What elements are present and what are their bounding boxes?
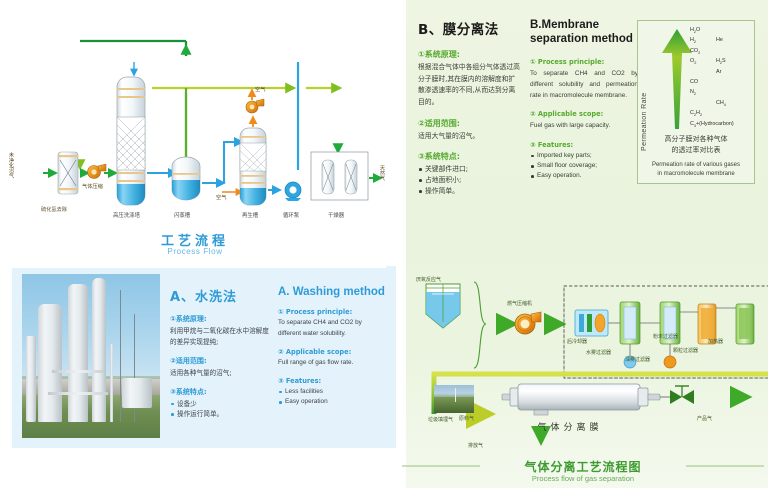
pf-label-air-mid: 空气	[216, 194, 226, 201]
washing-s2-title-cn: ②适用范围:	[170, 356, 270, 366]
h2s-removal-vessel	[58, 152, 78, 194]
pf-label-circulation-pump: 循环泵	[283, 211, 299, 219]
pf-label-raw-gas: 未净化沼气	[8, 152, 15, 178]
gs-label-particle-filter: 颗粒过滤器	[673, 347, 698, 354]
membrane-s3-item-3-cn: 操作简单。	[418, 186, 522, 197]
pf-label-air-top: 空气	[255, 86, 265, 93]
membrane-s1-body-cn: 根据混合气体中各组分气体透过高分子膜时,其在膜内的溶解度和扩散渗透速率的不同,从…	[418, 62, 522, 109]
membrane-s3-title-en: ③ Features:	[530, 141, 638, 149]
gs-label-anaerobic: 厌氧反应气	[416, 276, 441, 283]
washing-s2-title-en: ② Applicable scope:	[278, 348, 386, 356]
photo-tower-3	[92, 278, 106, 422]
washing-s3-item-2-cn: 操作运行简单。	[170, 409, 270, 420]
permeation-gas-he: He	[716, 37, 723, 43]
permeation-gas-co2: CO2	[690, 48, 700, 55]
gs-label-compressor: 燃气压缩机	[507, 300, 532, 307]
gs-label-powder-filter: 粉末过滤器	[653, 333, 678, 340]
photo-skid	[122, 378, 152, 408]
gas-separation-diagram	[398, 262, 768, 488]
pf-label-dryer: 干燥器	[328, 211, 344, 219]
plant-photo	[22, 274, 160, 438]
washing-s1-title-cn: ①系统原理:	[170, 314, 270, 324]
permeation-caption-en-line1: Permeation rate of various gases	[640, 161, 752, 170]
photo-pipe-riser	[110, 344, 113, 422]
membrane-s3-item-3-en: Easy operation.	[530, 171, 638, 181]
circulation-pump-icon	[285, 182, 301, 201]
washing-heading-en: A. Washing method	[278, 286, 386, 298]
gas-separation-membrane-module	[502, 384, 660, 415]
regeneration-tank	[240, 128, 266, 205]
permeation-gas-ar: Ar	[716, 69, 721, 75]
control-valve-icon	[670, 386, 694, 404]
permeation-gas-o2: O2	[690, 58, 696, 65]
permeation-caption-cn: 高分子膜对各种气体 的透过率对比表	[638, 134, 754, 155]
membrane-english-column: B.Membrane separation method ① Process p…	[530, 18, 638, 182]
photo-pipe-2	[48, 392, 108, 395]
landfill-photo-mast	[455, 388, 456, 402]
membrane-s2-body-en: Fuel gas with large capacity.	[530, 120, 638, 131]
air-blower-icon	[246, 99, 264, 113]
washing-english-column: A. Washing method ① Process principle: T…	[278, 286, 386, 407]
process-flow-diagram	[0, 0, 390, 262]
permeation-caption-en: Permeation rate of various gases in macr…	[640, 161, 752, 178]
membrane-s3-title-cn: ③系统特点:	[418, 151, 522, 162]
gs-label-oil-filter: 油雾过滤器	[625, 356, 650, 363]
permeation-gas-h2s: H2S	[716, 58, 726, 65]
gs-label-feed-gas: 原料气	[459, 415, 474, 422]
membrane-s3-item-2-en: Small floor coverage;	[530, 161, 638, 171]
washing-s2-body-cn: 适用各种气量的沼气;	[170, 368, 270, 379]
pf-label-regen-tank: 再生槽	[242, 211, 258, 219]
photo-tower-1	[38, 304, 62, 422]
membrane-s3-item-1-en: Imported key parts;	[530, 151, 638, 161]
washing-s3-title-en: ③ Features:	[278, 377, 386, 385]
washing-s1-body-cn: 利用甲烷与二氧化碳在水中溶解度的差异实现提纯;	[170, 326, 270, 348]
gs-membrane-label: 气体分离膜	[505, 420, 635, 433]
membrane-chinese-column: B、膜分离法 ①系统原理: 根据混合气体中各组分气体透过高分子膜时,其在膜内的溶…	[418, 18, 522, 197]
membrane-s1-body-en: To separate CH4 and CO2 by different sol…	[530, 68, 638, 102]
permeation-rate-box: Permeation Rate H2OH2HeCO2H2SO2ArCON2CH4…	[637, 20, 755, 184]
anaerobic-digester-icon	[426, 284, 460, 328]
membrane-heading-en: B.Membrane separation method	[530, 18, 638, 47]
gas-separation-title-en: Process flow of gas separation	[398, 474, 768, 483]
photo-tower-4	[26, 336, 36, 422]
gs-label-aftercooler: 后冷却器	[567, 338, 587, 345]
right-panel-blue-accent	[386, 266, 396, 448]
pf-label-flash-tank: 闪蒸槽	[174, 211, 190, 219]
dryer-unit	[311, 152, 368, 200]
permeation-caption-cn-line2: 的透过率对比表	[638, 145, 754, 156]
permeation-gas-c2h2: C2H2	[690, 110, 702, 117]
permeation-arrow-icon	[660, 27, 694, 131]
membrane-s3-item-1-cn: 关键部件进口;	[418, 164, 522, 175]
permeation-gas-n2: N2	[690, 89, 696, 96]
permeation-gas-ch4: CH4	[716, 100, 726, 107]
permeation-caption-en-line2: in macromolecule membrane	[640, 170, 752, 179]
membrane-s2-body-cn: 适用大气量的沼气。	[418, 131, 522, 143]
high-pressure-scrubber	[117, 77, 145, 205]
permeation-gas-co: CO	[690, 79, 698, 85]
gs-label-exhaust-gas: 排放气	[468, 442, 483, 449]
washing-s3-item-1-cn: 设备少	[170, 399, 270, 410]
permeation-gas-c3hydrocarbon: C3+(Hydrocarbon)	[690, 121, 734, 128]
photo-tower-2	[68, 284, 88, 422]
gas-compressor-icon	[88, 164, 107, 179]
washing-s3-item-2-en: Easy operation	[278, 397, 386, 407]
pf-label-compressor: 气体压缩	[82, 183, 103, 190]
washing-s1-body-en: To separate CH4 and CO2 by different wat…	[278, 318, 386, 340]
gas-separation-title-cn: 气体分离工艺流程图	[398, 458, 768, 475]
particle-filter-icon	[736, 304, 754, 344]
gs-label-water-filter: 水雾过滤器	[586, 349, 611, 356]
membrane-s3-item-2-cn: 占地面积小;	[418, 175, 522, 186]
membrane-heading-cn: B、膜分离法	[418, 18, 522, 38]
after-cooler-icon	[575, 310, 608, 336]
gs-label-heater: 加热器	[708, 338, 723, 345]
poster-root: 未净化沼气 硫化氢去除 气体压缩 高压洗涤塔 闪蒸槽 再生槽 循环泵 干燥器 空…	[0, 0, 768, 488]
pf-label-natural-gas: 天然气	[379, 165, 386, 181]
permeation-gas-h2o: H2O	[690, 27, 700, 34]
permeation-caption-cn-line1: 高分子膜对各种气体	[638, 134, 754, 145]
permeation-gas-h2: H2	[690, 37, 696, 44]
gs-label-landfill: 垃圾填埋气	[428, 416, 453, 423]
membrane-s1-title-cn: ①系统原理:	[418, 49, 522, 60]
landfill-photo	[434, 385, 474, 413]
washing-s2-body-en: Full range of gas flow rate.	[278, 358, 386, 369]
pf-label-h2s-removal: 硫化氢去除	[41, 206, 67, 213]
gs-label-product-gas: 产品气	[697, 415, 712, 422]
pf-label-scrubber: 高压洗涤塔	[113, 211, 140, 219]
membrane-s2-title-en: ② Applicable scope:	[530, 110, 638, 118]
membrane-s1-title-en: ① Process principle:	[530, 58, 638, 66]
washing-chinese-column: A、水洗法 ①系统原理: 利用甲烷与二氧化碳在水中溶解度的差异实现提纯; ②适用…	[170, 286, 270, 420]
process-flow-title-en: Process Flow	[0, 247, 390, 256]
flash-tank	[172, 157, 200, 200]
washing-s3-item-1-en: Less facilities	[278, 387, 386, 397]
washing-s1-title-en: ① Process principle:	[278, 308, 386, 316]
washing-heading-cn: A、水洗法	[170, 286, 270, 305]
washing-s3-title-cn: ③系统特点:	[170, 387, 270, 397]
photo-pole-1	[120, 290, 121, 422]
membrane-s2-title-cn: ②适用范围:	[418, 118, 522, 129]
photo-pipe-1	[52, 370, 104, 373]
